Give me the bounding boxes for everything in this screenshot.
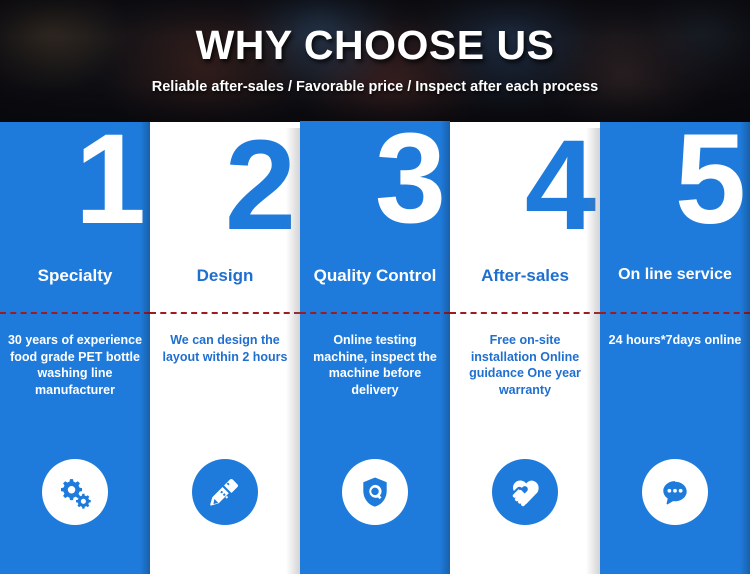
column-description: We can design the layout within 2 hours <box>156 332 294 365</box>
column-number: 1 <box>75 122 142 244</box>
column-description: Online testing machine, inspect the mach… <box>306 332 444 399</box>
column-divider <box>450 312 600 314</box>
feature-column-quality-control[interactable]: 3 Quality Control Online testing machine… <box>300 121 450 574</box>
page-subtitle: Reliable after-sales / Favorable price /… <box>0 79 750 95</box>
column-title: On line service <box>600 266 750 284</box>
pencil-ruler-icon <box>192 459 258 525</box>
column-description: Free on-site installation Online guidanc… <box>456 332 594 399</box>
shield-q-icon <box>342 459 408 525</box>
column-title: After-sales <box>450 266 600 286</box>
feature-column-after-sales[interactable]: 4 After-sales Free on-site installation … <box>450 128 600 574</box>
column-title: Design <box>150 266 300 286</box>
gears-icon <box>42 459 108 525</box>
feature-column-design[interactable]: 2 Design We can design the layout within… <box>150 128 300 574</box>
column-title: Specialty <box>0 266 150 286</box>
column-number: 4 <box>525 128 592 250</box>
column-number: 2 <box>225 128 292 250</box>
column-divider <box>300 312 450 314</box>
column-description: 24 hours*7days online <box>606 332 744 349</box>
header-banner: WHY CHOOSE US Reliable after-sales / Fav… <box>0 0 750 122</box>
handshake-heart-icon <box>492 459 558 525</box>
column-divider <box>0 312 150 314</box>
feature-column-online-service[interactable]: 5 On line service 24 hours*7days online <box>600 122 750 574</box>
column-number: 5 <box>675 122 742 244</box>
column-title: Quality Control <box>300 266 450 286</box>
column-divider <box>600 312 750 314</box>
column-description: 30 years of experience food grade PET bo… <box>6 332 144 399</box>
chat-bubble-icon <box>642 459 708 525</box>
column-number: 3 <box>375 121 442 243</box>
column-divider <box>150 312 300 314</box>
why-choose-us-banner: WHY CHOOSE US Reliable after-sales / Fav… <box>0 0 750 574</box>
feature-column-specialty[interactable]: 1 Specialty 30 years of experience food … <box>0 122 150 574</box>
page-title: WHY CHOOSE US <box>0 22 750 69</box>
